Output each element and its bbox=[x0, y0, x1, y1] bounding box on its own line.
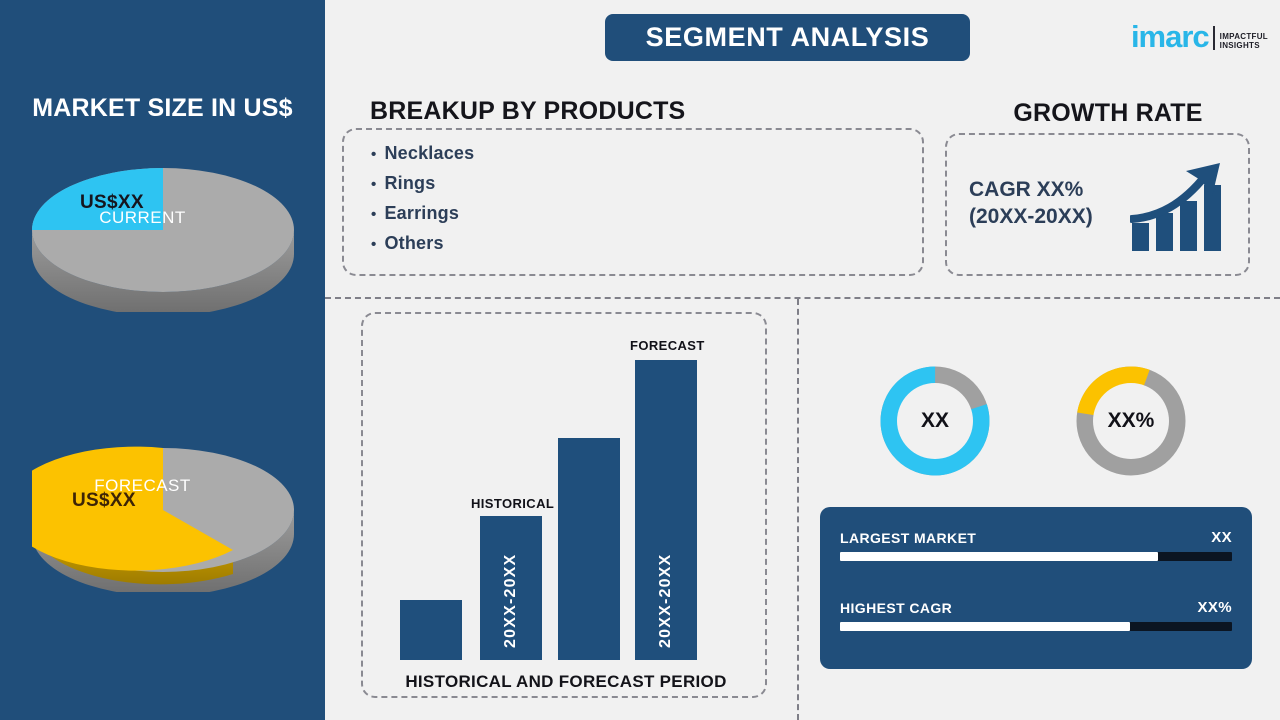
stat-progress-fill bbox=[840, 622, 1130, 631]
breakup-card: • Necklaces • Rings • Earrings • Others bbox=[342, 128, 924, 276]
largest-market-donut: XX bbox=[880, 366, 990, 476]
logo-tagline-line2: INSIGHTS bbox=[1220, 42, 1268, 50]
largest-market-donut-center: XX bbox=[897, 383, 973, 459]
imarc-logo: imarc IMPACTFUL INSIGHTS bbox=[1131, 14, 1268, 52]
stat-progress-fill bbox=[840, 552, 1158, 561]
growth-arrow-bar-chart-icon bbox=[1130, 157, 1232, 257]
cagr-line2: (20XX-20XX) bbox=[969, 204, 1093, 231]
bar-chart: 20XX-20XX 20XX-20XX HISTORICAL FORECAST … bbox=[363, 314, 769, 700]
pie-current-graphic bbox=[32, 152, 294, 312]
logo-divider bbox=[1213, 26, 1215, 50]
list-item-label: Others bbox=[384, 233, 443, 254]
pie-chart-current: US$XX bbox=[20, 152, 305, 327]
pie-chart-forecast: US$XX bbox=[20, 432, 305, 607]
highest-cagr-donut-value: XX% bbox=[1108, 409, 1155, 433]
growth-rate-card: CAGR XX% (20XX-20XX) bbox=[945, 133, 1250, 276]
stat-value: XX% bbox=[1197, 599, 1232, 616]
list-item-label: Necklaces bbox=[384, 143, 474, 164]
historical-forecast-bar-chart-card: 20XX-20XX 20XX-20XX HISTORICAL FORECAST … bbox=[361, 312, 767, 698]
list-item: • Earrings bbox=[371, 203, 474, 224]
stat-label: HIGHEST CAGR bbox=[840, 600, 952, 616]
pie-forecast-caption: FORECAST bbox=[0, 476, 285, 496]
sidebar-title: MARKET SIZE IN US$ bbox=[0, 94, 325, 123]
pie-current-caption: CURRENT bbox=[0, 208, 285, 228]
breakup-list: • Necklaces • Rings • Earrings • Others bbox=[371, 143, 474, 263]
header: SEGMENT ANALYSIS imarc IMPACTFUL INSIGHT… bbox=[325, 0, 1280, 74]
bar-item bbox=[400, 600, 462, 660]
bar-annotation-historical: HISTORICAL bbox=[471, 496, 554, 511]
bar-annotation-forecast: FORECAST bbox=[630, 338, 705, 353]
stat-progress-track bbox=[840, 622, 1232, 631]
market-stats-panel: LARGEST MARKET XX HIGHEST CAGR XX% bbox=[820, 507, 1252, 669]
cagr-text: CAGR XX% (20XX-20XX) bbox=[969, 177, 1093, 231]
pie-forecast-graphic bbox=[32, 432, 294, 592]
cagr-line1: CAGR XX% bbox=[969, 177, 1093, 204]
breakup-heading: BREAKUP BY PRODUCTS bbox=[370, 97, 685, 126]
bullet-icon: • bbox=[371, 177, 376, 192]
stat-progress-track bbox=[840, 552, 1232, 561]
list-item: • Rings bbox=[371, 173, 474, 194]
bullet-icon: • bbox=[371, 147, 376, 162]
stat-row-largest-market: LARGEST MARKET XX bbox=[840, 529, 1232, 561]
highest-cagr-donut: XX% bbox=[1076, 366, 1186, 476]
bar-period-label: 20XX-20XX bbox=[502, 554, 520, 648]
stat-row-highest-cagr: HIGHEST CAGR XX% bbox=[840, 599, 1232, 631]
list-item: • Others bbox=[371, 233, 474, 254]
sidebar-market-size: MARKET SIZE IN US$ US$XX bbox=[0, 0, 325, 720]
vertical-divider bbox=[797, 299, 799, 720]
stat-label: LARGEST MARKET bbox=[840, 530, 976, 546]
infographic-canvas: MARKET SIZE IN US$ US$XX bbox=[0, 0, 1280, 720]
bar-period-label: 20XX-20XX bbox=[657, 554, 675, 648]
logo-wordmark: imarc bbox=[1131, 21, 1209, 52]
list-item-label: Earrings bbox=[384, 203, 459, 224]
horizontal-divider bbox=[325, 297, 1280, 299]
largest-market-donut-value: XX bbox=[921, 409, 949, 433]
bar-item bbox=[558, 438, 620, 660]
stat-value: XX bbox=[1211, 529, 1232, 546]
highest-cagr-donut-center: XX% bbox=[1093, 383, 1169, 459]
list-item-label: Rings bbox=[384, 173, 435, 194]
bullet-icon: • bbox=[371, 207, 376, 222]
page-title: SEGMENT ANALYSIS bbox=[646, 22, 930, 53]
list-item: • Necklaces bbox=[371, 143, 474, 164]
logo-tagline: IMPACTFUL INSIGHTS bbox=[1220, 33, 1268, 52]
segment-analysis-title-pill: SEGMENT ANALYSIS bbox=[605, 14, 970, 61]
growth-rate-heading: GROWTH RATE bbox=[943, 99, 1273, 128]
bar-chart-axis-label: HISTORICAL AND FORECAST PERIOD bbox=[363, 672, 769, 692]
bullet-icon: • bbox=[371, 237, 376, 252]
